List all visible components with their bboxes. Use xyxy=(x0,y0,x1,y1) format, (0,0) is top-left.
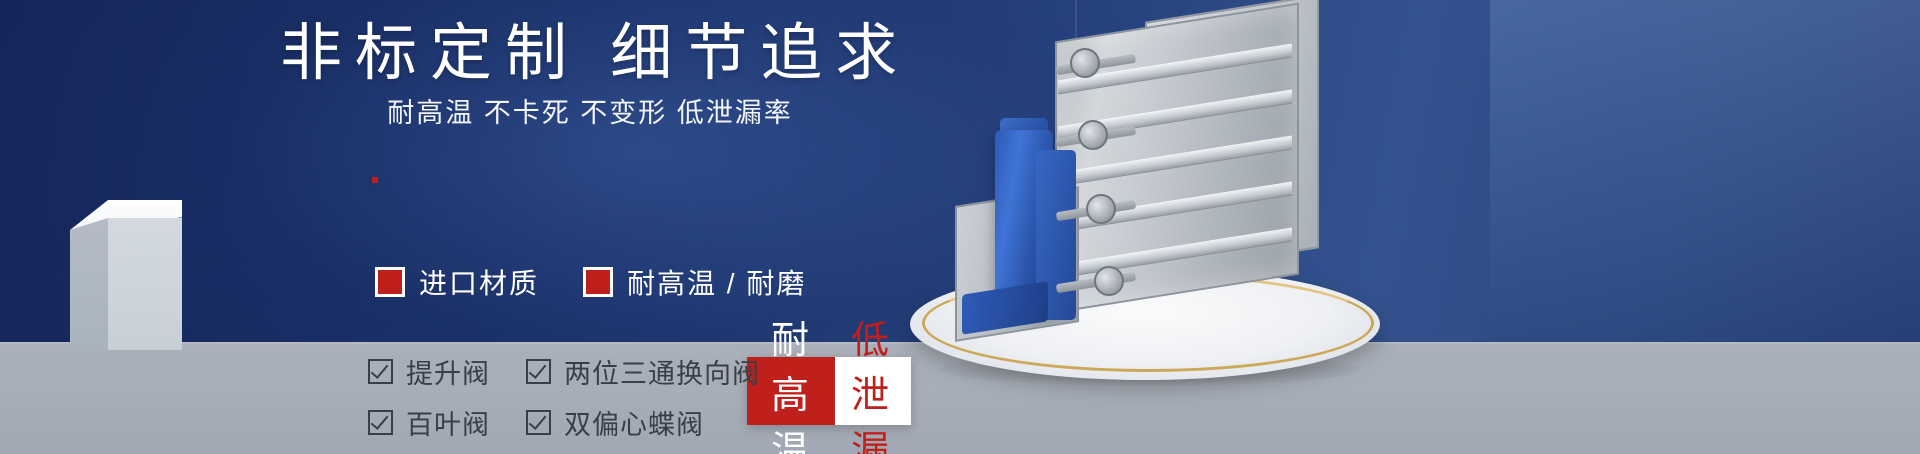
banner-subheadline: 耐高温 不卡死 不变形 低泄漏率 xyxy=(280,96,900,130)
valve-label: 提升阀 xyxy=(406,352,490,391)
badge-high-temperature-label: 耐高温 xyxy=(747,357,835,425)
checked-box-icon xyxy=(368,410,393,435)
feature-item-imported-material: 进口材质 xyxy=(375,262,539,302)
valve-list-item-louver-valve: 百叶阀 xyxy=(368,403,490,442)
red-square-bullet-icon xyxy=(375,267,405,297)
promo-banner: 非标定制 细节追求 耐高温 不卡死 不变形 低泄漏率 耐高温 低泄漏 进口材质 … xyxy=(0,0,1920,454)
valve-list-item-two-position-three-way: 两位三通换向阀 xyxy=(526,352,760,391)
banner-text-content: 非标定制 细节追求 耐高温 不卡死 不变形 低泄漏率 耐高温 低泄漏 进口材质 … xyxy=(0,0,1920,454)
red-square-bullet-icon xyxy=(583,267,613,297)
feature-label: 耐高温 / 耐磨 xyxy=(627,262,806,302)
feature-bullet-row: 进口材质 耐高温 / 耐磨 xyxy=(375,262,806,302)
valve-list-item-double-eccentric-butterfly: 双偏心蝶阀 xyxy=(526,403,760,442)
highlight-badge-inner: 耐高温 低泄漏 xyxy=(747,357,911,425)
valve-label: 百叶阀 xyxy=(406,403,490,442)
valve-list-item-lift-valve: 提升阀 xyxy=(368,352,490,391)
banner-headline: 非标定制 细节追求 xyxy=(280,18,900,90)
checked-box-icon xyxy=(526,359,551,384)
badge-low-leakage-label: 低泄漏 xyxy=(835,357,911,425)
highlight-badge: 耐高温 低泄漏 xyxy=(372,177,378,183)
valve-label: 两位三通换向阀 xyxy=(564,352,760,391)
feature-item-high-temp-wear: 耐高温 / 耐磨 xyxy=(583,262,806,302)
valve-type-list: 提升阀 两位三通换向阀 百叶阀 双偏心蝶阀 xyxy=(368,352,760,442)
valve-label: 双偏心蝶阀 xyxy=(564,403,704,442)
feature-label: 进口材质 xyxy=(419,262,539,302)
checked-box-icon xyxy=(368,359,393,384)
checked-box-icon xyxy=(526,410,551,435)
